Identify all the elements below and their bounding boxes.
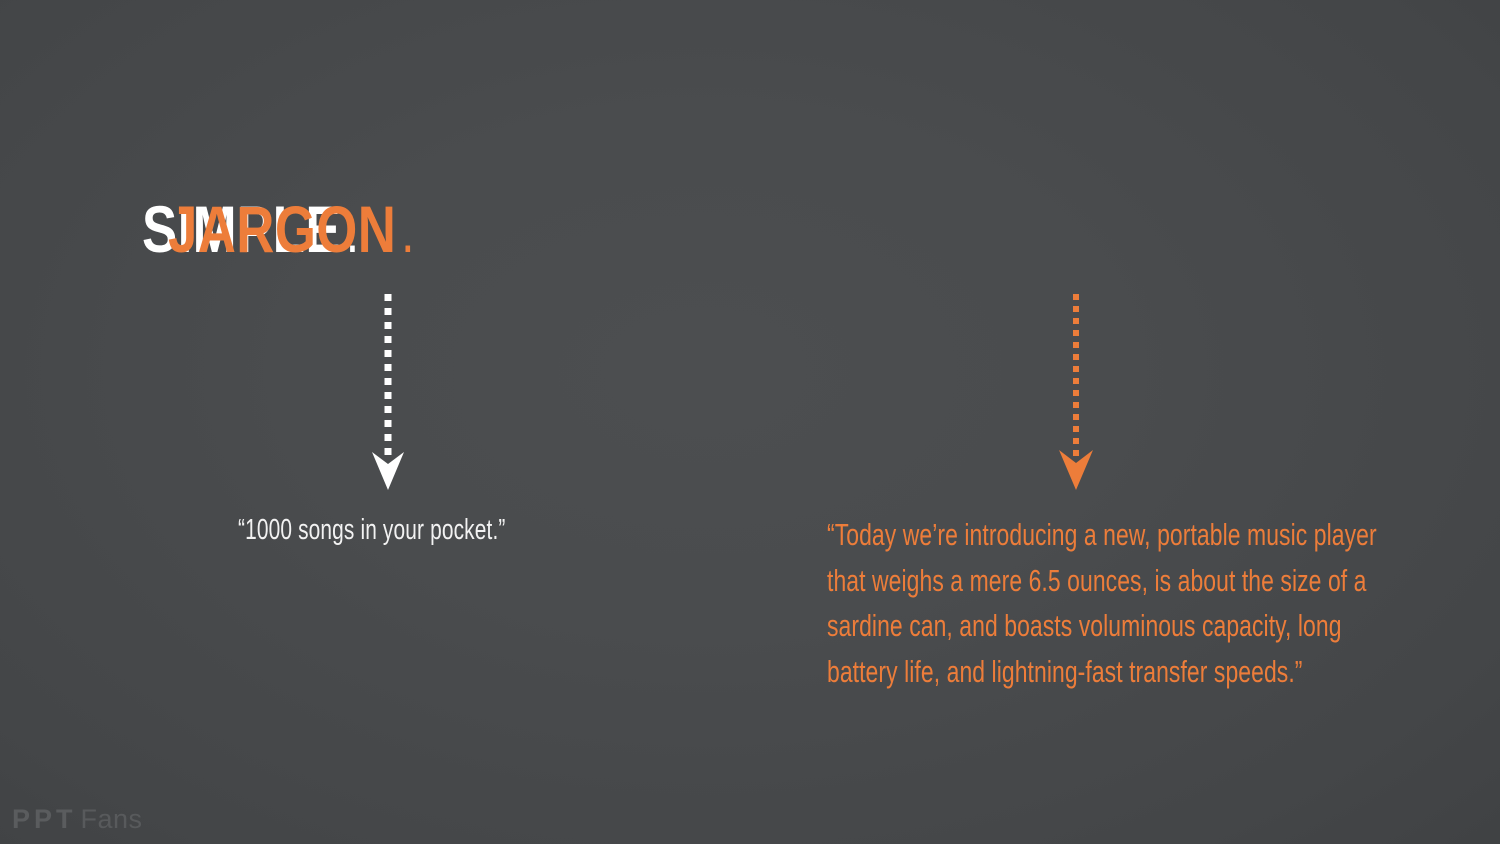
quote-jargon-line-4: battery life, and lightning-fast transfe… (827, 649, 1426, 695)
quote-jargon-line-2: that weighs a mere 6.5 ounces, is about … (827, 558, 1426, 604)
column-jargon (800, 0, 1460, 844)
quote-simple: “1000 songs in your pocket.” (238, 512, 506, 548)
quote-jargon: “Today we’re introducing a new, portable… (827, 512, 1500, 694)
slide-canvas: SIMPLE. “1000 songs in your pocket.” JAR… (0, 0, 1500, 844)
watermark-pptfans: PPTFans (12, 804, 143, 834)
heading-jargon: JARGON. (168, 192, 415, 269)
watermark-bold-text: PPT (12, 804, 77, 834)
dotted-down-arrow-icon-jargon (1056, 292, 1096, 490)
quote-jargon-line-1: “Today we’re introducing a new, portable… (827, 512, 1426, 558)
watermark-light-text: Fans (77, 804, 143, 834)
quote-jargon-line-3: sardine can, and boasts voluminous capac… (827, 603, 1426, 649)
heading-jargon-text: JARGON (168, 192, 396, 266)
column-simple (130, 0, 750, 844)
heading-jargon-period: . (396, 198, 415, 265)
dotted-down-arrow-icon-simple (368, 292, 408, 490)
